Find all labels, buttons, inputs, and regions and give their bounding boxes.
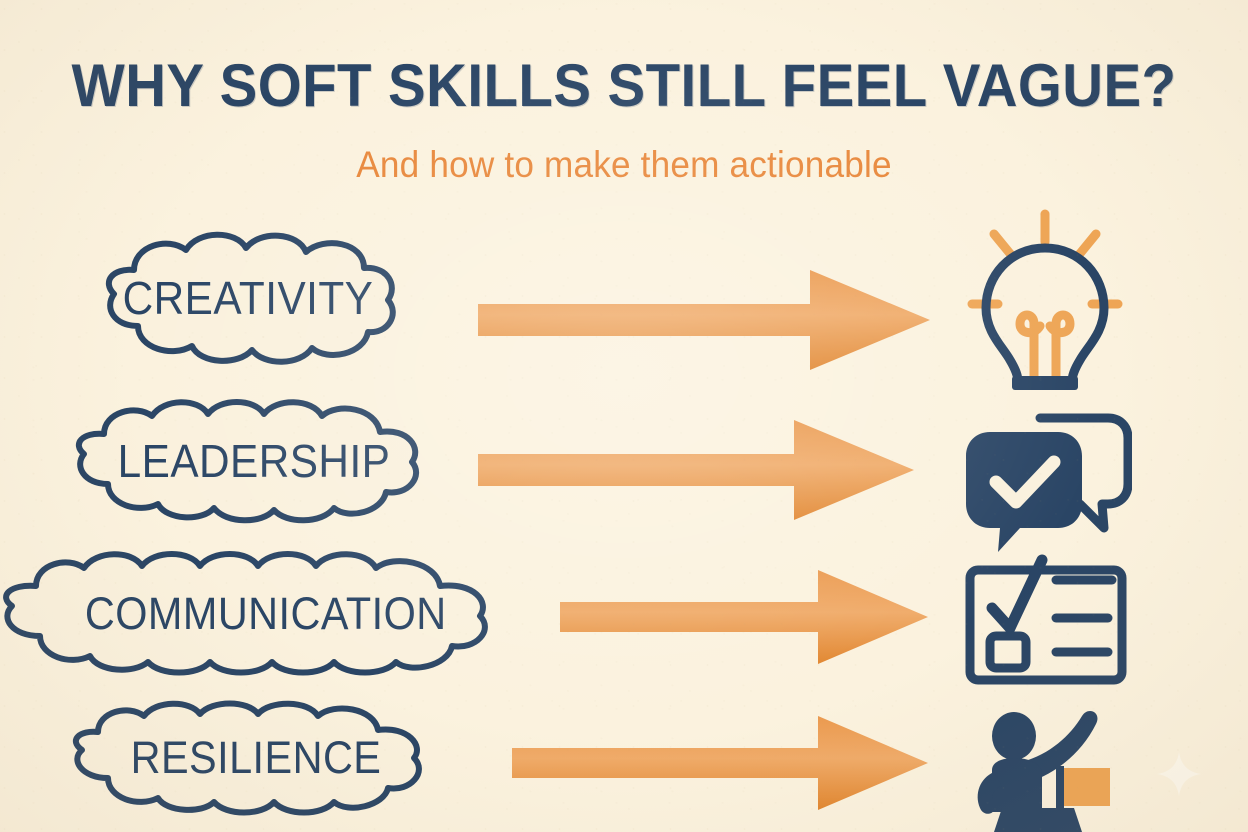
arrow-right-resilience bbox=[512, 714, 928, 812]
infographic-poster: WHY SOFT SKILLS STILL FEEL VAGUE? And ho… bbox=[0, 0, 1248, 832]
person-podium-icon bbox=[958, 708, 1136, 832]
cloud-creativity[interactable]: CREATIVITY bbox=[76, 228, 420, 368]
row-leadership: LEADERSHIP bbox=[0, 398, 1248, 558]
page-subtitle: And how to make them actionable bbox=[31, 146, 1217, 183]
lightbulb-icon bbox=[960, 200, 1130, 400]
row-communication: COMMUNICATION bbox=[0, 552, 1248, 702]
arrow-right-creativity bbox=[478, 268, 930, 372]
cloud-communication[interactable]: COMMUNICATION bbox=[0, 552, 536, 676]
row-creativity: CREATIVITY bbox=[0, 228, 1248, 396]
page-title: WHY SOFT SKILLS STILL FEEL VAGUE? bbox=[37, 56, 1210, 116]
speech-bubbles-check-icon bbox=[952, 400, 1132, 556]
checklist-icon bbox=[962, 552, 1134, 688]
cloud-resilience[interactable]: RESILIENCE bbox=[36, 700, 476, 816]
cloud-leadership[interactable]: LEADERSHIP bbox=[56, 398, 452, 524]
sparkle-icon bbox=[1156, 751, 1202, 802]
row-resilience: RESILIENCE bbox=[0, 700, 1248, 832]
arrow-right-leadership bbox=[478, 418, 914, 522]
arrow-right-communication bbox=[560, 568, 928, 666]
